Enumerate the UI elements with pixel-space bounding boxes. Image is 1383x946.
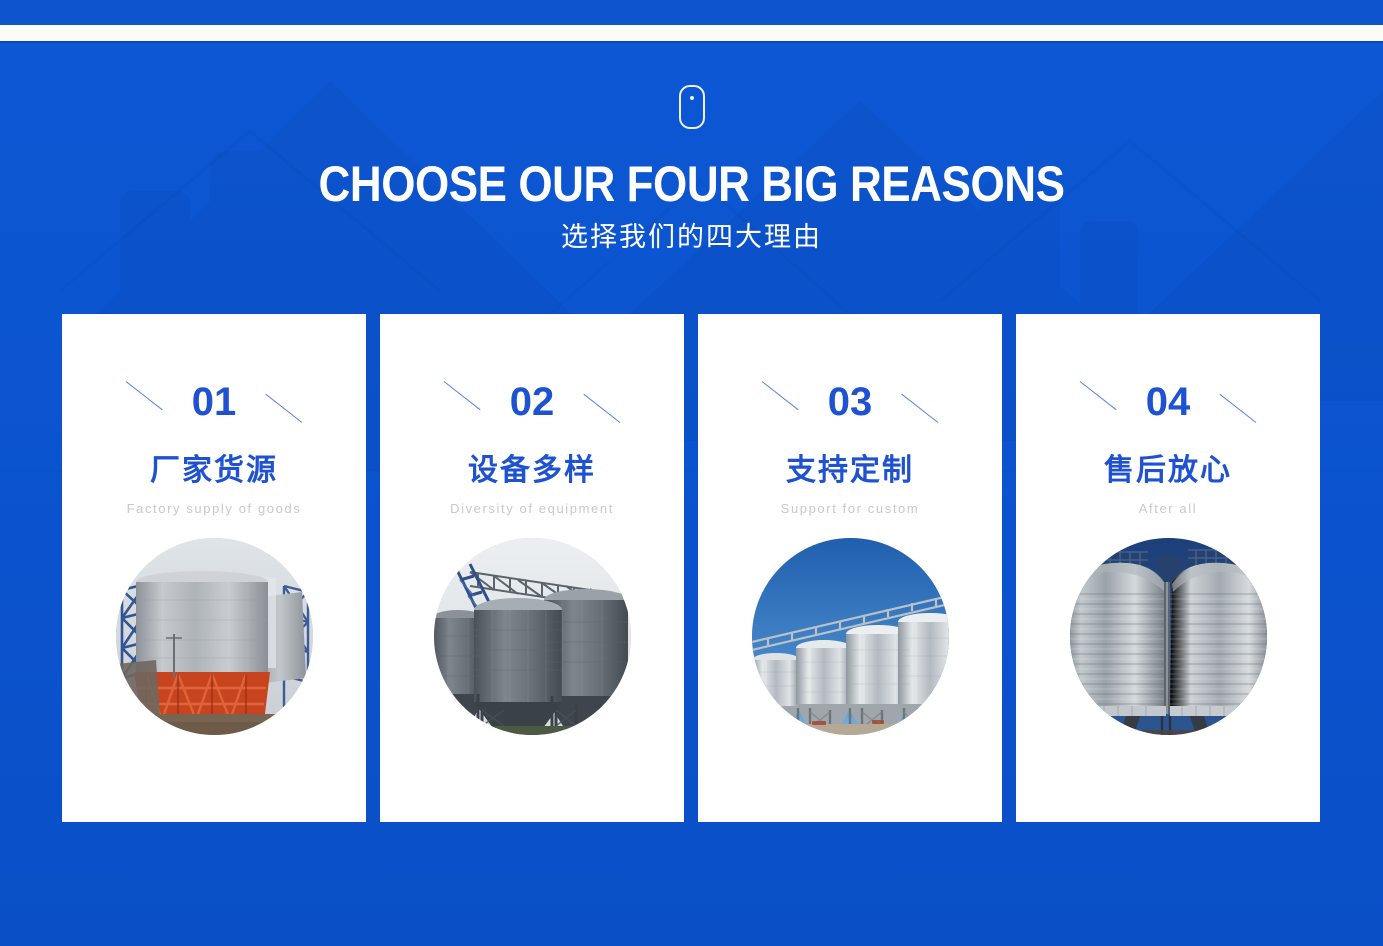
card-number: 01 (192, 382, 237, 422)
card-number: 04 (1146, 382, 1191, 422)
diagonal-accent-top-left-icon (126, 381, 163, 410)
silo-photo-orange-hopper (116, 538, 313, 735)
card-title-chinese: 售后放心 (1104, 452, 1232, 490)
diagonal-accent-bottom-right-icon (583, 394, 620, 423)
diagonal-accent-bottom-right-icon (901, 394, 938, 423)
page-title-chinese: 选择我们的四大理由 (0, 220, 1383, 254)
diagonal-accent-top-left-icon (1080, 381, 1117, 410)
card-number-row: 04 (1068, 372, 1268, 432)
capsule-dot-icon (679, 85, 705, 129)
diagonal-accent-top-left-icon (762, 381, 799, 410)
reason-card[interactable]: 02 设备多样 Diversity of equipment (380, 314, 684, 822)
card-title-chinese: 支持定制 (786, 452, 914, 490)
reason-card-list: 01 厂家货源 Factory supply of goods (62, 314, 1320, 822)
page-title-english: CHOOSE OUR FOUR BIG REASONS (83, 156, 1300, 212)
top-stripe-shadow (0, 41, 1383, 43)
silo-photo-hopper-group (434, 538, 631, 735)
card-title-english: After all (1053, 500, 1283, 518)
card-number-row: 01 (114, 372, 314, 432)
top-color-band (0, 0, 1383, 25)
reason-card[interactable]: 01 厂家货源 Factory supply of goods (62, 314, 366, 822)
diagonal-accent-bottom-right-icon (1219, 394, 1256, 423)
card-number: 02 (510, 382, 555, 422)
card-title-chinese: 厂家货源 (150, 452, 278, 490)
reason-card[interactable]: 03 支持定制 Support for custom (698, 314, 1002, 822)
promo-page: CHOOSE OUR FOUR BIG REASONS 选择我们的四大理由 01… (0, 0, 1383, 946)
diagonal-accent-top-left-icon (444, 381, 481, 410)
reason-card[interactable]: 04 售后放心 After all (1016, 314, 1320, 822)
card-number: 03 (828, 382, 873, 422)
card-number-row: 02 (432, 372, 632, 432)
diagonal-accent-bottom-right-icon (265, 394, 302, 423)
card-title-english: Factory supply of goods (99, 500, 329, 518)
top-white-stripe (0, 25, 1383, 41)
section-header: CHOOSE OUR FOUR BIG REASONS 选择我们的四大理由 (0, 60, 1383, 254)
silo-photo-blue-sky-row (752, 538, 949, 735)
card-title-chinese: 设备多样 (468, 452, 596, 490)
silo-photo-corrugated-pair (1070, 538, 1267, 735)
card-title-english: Support for custom (735, 500, 965, 518)
card-number-row: 03 (750, 372, 950, 432)
card-title-english: Diversity of equipment (417, 500, 647, 518)
